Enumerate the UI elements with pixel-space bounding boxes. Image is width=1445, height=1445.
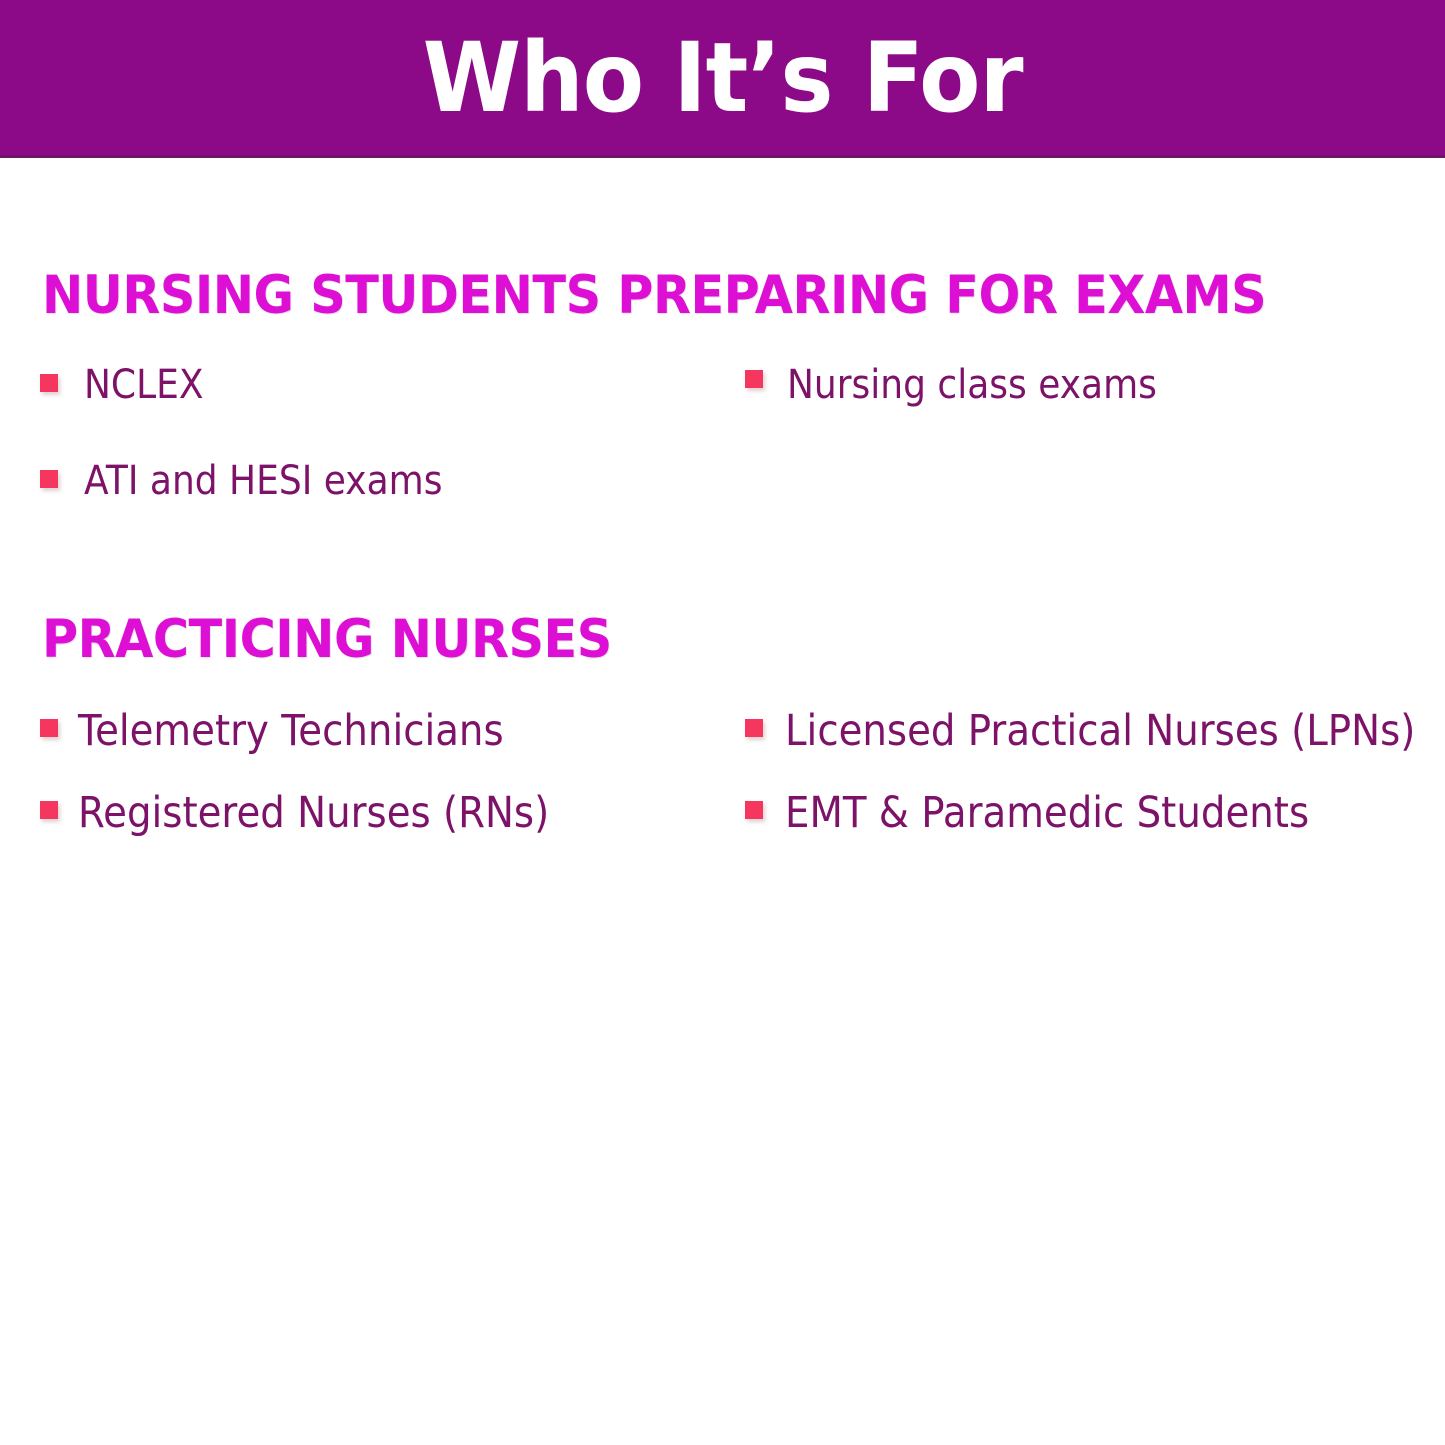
list-item-label: Telemetry Technicians: [78, 707, 504, 756]
section-heading-nursing-students: NURSING STUDENTS PREPARING FOR EXAMS: [42, 268, 1310, 324]
slide-content: NURSING STUDENTS PREPARING FOR EXAMS NCL…: [0, 158, 1445, 1445]
section-practicing-nurses: PRACTICING NURSES Telemetry Technicians …: [40, 612, 1405, 839]
bullet-square-icon: [40, 719, 58, 737]
list-item: NCLEX: [40, 362, 745, 408]
list-item: ATI and HESI exams: [40, 458, 745, 504]
list-item-label: Licensed Practical Nurses (LPNs): [785, 707, 1415, 756]
list-item: Telemetry Technicians: [40, 707, 745, 756]
bullet-square-icon: [40, 470, 58, 488]
header-band: Who It’s For: [0, 0, 1445, 158]
bullet-square-icon: [745, 370, 763, 388]
list-item: Licensed Practical Nurses (LPNs): [745, 707, 1442, 756]
list-item-label: ATI and HESI exams: [84, 458, 442, 504]
bullet-square-icon: [745, 801, 763, 819]
bottom-whitespace: [40, 838, 1405, 1358]
list-item: Nursing class exams: [745, 362, 1442, 408]
section-heading-practicing-nurses: PRACTICING NURSES: [42, 612, 1310, 668]
bullet-square-icon: [40, 374, 58, 392]
list-item-label: Registered Nurses (RNs): [78, 789, 549, 838]
list-item: EMT & Paramedic Students: [745, 789, 1442, 838]
list-item-label: Nursing class exams: [787, 362, 1157, 408]
section-spacer: [40, 504, 1405, 612]
bullet-grid-practicing-nurses: Telemetry Technicians Licensed Practical…: [40, 707, 1405, 838]
bullet-square-icon: [745, 719, 763, 737]
list-item: Registered Nurses (RNs): [40, 789, 745, 838]
section-nursing-students: NURSING STUDENTS PREPARING FOR EXAMS NCL…: [40, 268, 1405, 504]
bullet-square-icon: [40, 801, 58, 819]
top-spacer: [40, 158, 1405, 268]
slide-root: { "header": { "title": "Who It\u2019s Fo…: [0, 0, 1445, 1445]
page-title: Who It’s For: [422, 30, 1022, 126]
list-item-label: NCLEX: [84, 362, 204, 408]
bullet-grid-nursing-students: NCLEX Nursing class exams ATI and HESI e…: [40, 362, 1405, 504]
list-item-label: EMT & Paramedic Students: [785, 789, 1309, 838]
